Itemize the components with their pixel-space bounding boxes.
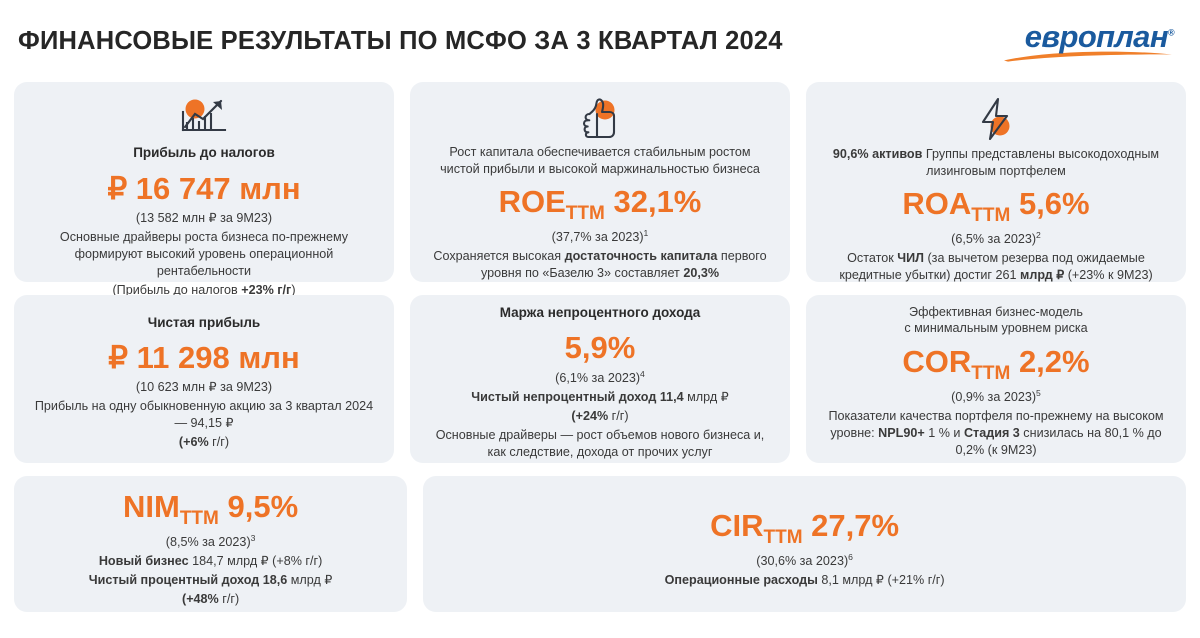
- metric-value: ₽ 16 747 млн: [107, 172, 300, 207]
- note-highlight-2: Стадия 3: [964, 426, 1020, 440]
- footnote-marker: 2: [1036, 230, 1041, 240]
- metric-value: CORTTM 2,2%: [902, 345, 1089, 384]
- card-lead-text: Эффективная бизнес-модель с минимальным …: [904, 304, 1087, 338]
- metric-note: Сохраняется высокая достаточность капита…: [428, 248, 772, 282]
- infographic-page: ФИНАНСОВЫЕ РЕЗУЛЬТАТЫ ПО МСФО ЗА 3 КВАРТ…: [0, 0, 1200, 638]
- note-highlight-1: ЧИЛ: [897, 251, 924, 265]
- metric-value: 5,9%: [565, 331, 636, 366]
- footer-highlight: (+6%: [179, 435, 209, 449]
- card-title: Маржа непроцентного дохода: [500, 304, 701, 322]
- page-title: ФИНАНСОВЫЕ РЕЗУЛЬТАТЫ ПО МСФО ЗА 3 КВАРТ…: [18, 27, 783, 56]
- metric-comparison: (6,1% за 2023)4: [555, 369, 645, 387]
- line-highlight: Операционные расходы: [665, 573, 818, 587]
- card-lead-text: 90,6% активов Группы представлены высоко…: [824, 146, 1168, 179]
- card-nim: NIMTTM 9,5% (8,5% за 2023)3 Новый бизнес…: [14, 476, 407, 612]
- thumbs-up-icon: [575, 96, 625, 140]
- footnote-marker: 3: [251, 533, 256, 543]
- metric-number: 27,7%: [811, 508, 899, 543]
- metric-comparison: (8,5% за 2023)3: [166, 533, 256, 551]
- note-highlight-1: NPL90+: [878, 426, 925, 440]
- metric-note: Остаток ЧИЛ (за вычетом резерва под ожид…: [824, 250, 1168, 284]
- metric-subscript: TTM: [566, 203, 605, 224]
- line1-rest: 184,7 млрд ₽ (+8% г/г): [189, 554, 323, 568]
- note-highlight-2: млрд ₽: [1020, 268, 1064, 282]
- metric-note: Показатели качества портфеля по-прежнему…: [824, 408, 1168, 459]
- card-title: Прибыль до налогов: [133, 144, 275, 162]
- line2-highlight: Чистый процентный доход 18,6: [89, 573, 287, 587]
- page-header: ФИНАНСОВЫЕ РЕЗУЛЬТАТЫ ПО МСФО ЗА 3 КВАРТ…: [14, 0, 1186, 82]
- footnote-marker: 5: [1036, 388, 1041, 398]
- metric-description: Основные драйверы роста бизнеса по-прежн…: [32, 229, 376, 280]
- metric-line-2: Чистый процентный доход 18,6 млрд ₽: [89, 572, 333, 589]
- footnote-marker: 1: [644, 228, 649, 238]
- card-profit-before-tax: Прибыль до налогов ₽ 16 747 млн (13 582 …: [14, 82, 394, 282]
- metric-subscript: TTM: [180, 509, 219, 530]
- card-roe: Рост капитала обеспечивается стабильным …: [410, 82, 790, 282]
- comparison-text: (6,5% за 2023): [951, 232, 1036, 246]
- card-net-profit: Чистая прибыль ₽ 11 298 млн (10 623 млн …: [14, 295, 394, 463]
- logo-registered-mark: ®: [1168, 27, 1174, 37]
- logo-wordmark: европлан®: [1025, 21, 1174, 52]
- line-rest: млрд ₽: [684, 390, 729, 404]
- comparison-text: (6,1% за 2023): [555, 371, 640, 385]
- metrics-row-2: Чистая прибыль ₽ 11 298 млн (10 623 млн …: [14, 295, 1186, 463]
- note-part-2: 1 % и: [925, 426, 964, 440]
- metric-name: ROE: [499, 184, 566, 219]
- footer-suffix: г/г): [209, 435, 229, 449]
- metric-name: COR: [902, 344, 971, 379]
- metric-line-1: Операционные расходы 8,1 млрд ₽ (+21% г/…: [665, 572, 945, 589]
- card-roa: 90,6% активов Группы представлены высоко…: [806, 82, 1186, 282]
- metric-value: ROATTM 5,6%: [902, 187, 1089, 226]
- note-part-3: (+23% к 9М23): [1064, 268, 1152, 282]
- footnote-marker: 6: [848, 552, 853, 562]
- card-lead-text: Рост капитала обеспечивается стабильным …: [428, 144, 772, 177]
- metric-value: ROETTM 32,1%: [499, 185, 702, 224]
- line3-highlight: (+48%: [182, 592, 219, 606]
- note-part-1: Остаток: [847, 251, 897, 265]
- lead-highlight: 90,6% активов: [833, 147, 922, 161]
- note-highlight-2: 20,3%: [683, 266, 719, 280]
- line3-rest: г/г): [219, 592, 239, 606]
- metric-number: 2,2%: [1019, 344, 1090, 379]
- metrics-grid: Прибыль до налогов ₽ 16 747 млн (13 582 …: [14, 82, 1186, 612]
- metrics-row-1: Прибыль до налогов ₽ 16 747 млн (13 582 …: [14, 82, 1186, 282]
- metric-description: Основные драйверы — рост объемов нового …: [428, 427, 772, 461]
- metric-number: 5,6%: [1019, 186, 1090, 221]
- metric-subscript: TTM: [763, 527, 802, 548]
- metric-value: ₽ 11 298 млн: [108, 341, 299, 376]
- line-highlight: Чистый непроцентный доход 11,4: [471, 390, 683, 404]
- note-part-1: Сохраняется высокая: [433, 249, 564, 263]
- metric-comparison: (0,9% за 2023)5: [951, 388, 1041, 406]
- lead-rest: Группы представлены высокодоходным лизин…: [922, 147, 1159, 178]
- metric-line-1: Новый бизнес 184,7 млрд ₽ (+8% г/г): [99, 553, 323, 570]
- metric-name: ROA: [902, 186, 971, 221]
- metric-line-3: (+48% г/г): [182, 591, 239, 608]
- metric-value: NIMTTM 9,5%: [123, 490, 298, 529]
- europlan-logo: европлан®: [1002, 21, 1180, 62]
- line2-highlight: (+24%: [571, 409, 608, 423]
- metric-number: 9,5%: [228, 489, 299, 524]
- growth-chart-icon: [175, 96, 233, 138]
- logo-text: европлан: [1025, 19, 1168, 54]
- metric-footer: (+6% г/г): [179, 434, 229, 451]
- comparison-text: (8,5% за 2023): [166, 535, 251, 549]
- card-cor: Эффективная бизнес-модель с минимальным …: [806, 295, 1186, 463]
- note-highlight-1: достаточность капитала: [565, 249, 718, 263]
- metric-number: 32,1%: [613, 184, 701, 219]
- comparison-text: (37,7% за 2023): [552, 230, 644, 244]
- card-title: Чистая прибыль: [148, 314, 260, 332]
- card-cir: CIRTTM 27,7% (30,6% за 2023)6 Операционн…: [423, 476, 1186, 612]
- metric-value: CIRTTM 27,7%: [710, 509, 899, 548]
- metric-comparison: (37,7% за 2023)1: [552, 228, 649, 246]
- line-rest: 8,1 млрд ₽ (+21% г/г): [818, 573, 945, 587]
- line2-rest: г/г): [608, 409, 628, 423]
- card-non-interest-margin: Маржа непроцентного дохода 5,9% (6,1% за…: [410, 295, 790, 463]
- lightning-bolt-icon: [974, 96, 1018, 142]
- metric-comparison: (10 623 млн ₽ за 9М23): [136, 379, 272, 396]
- metric-name: CIR: [710, 508, 763, 543]
- metric-subscript: TTM: [971, 205, 1010, 226]
- metric-comparison: (13 582 млн ₽ за 9М23): [136, 210, 272, 227]
- metric-line-1: Чистый непроцентный доход 11,4 млрд ₽: [471, 389, 728, 406]
- metric-description: Прибыль на одну обыкновенную акцию за 3 …: [32, 398, 376, 432]
- metric-line-2: (+24% г/г): [571, 408, 628, 425]
- metric-comparison: (6,5% за 2023)2: [951, 230, 1041, 248]
- metric-comparison: (30,6% за 2023)6: [756, 552, 853, 570]
- line2-rest: млрд ₽: [287, 573, 332, 587]
- footnote-marker: 4: [640, 369, 645, 379]
- metric-name: NIM: [123, 489, 180, 524]
- metric-subscript: TTM: [971, 364, 1010, 385]
- comparison-text: (30,6% за 2023): [756, 554, 848, 568]
- line1-highlight: Новый бизнес: [99, 554, 189, 568]
- metrics-row-3: NIMTTM 9,5% (8,5% за 2023)3 Новый бизнес…: [14, 476, 1186, 612]
- comparison-text: (0,9% за 2023): [951, 390, 1036, 404]
